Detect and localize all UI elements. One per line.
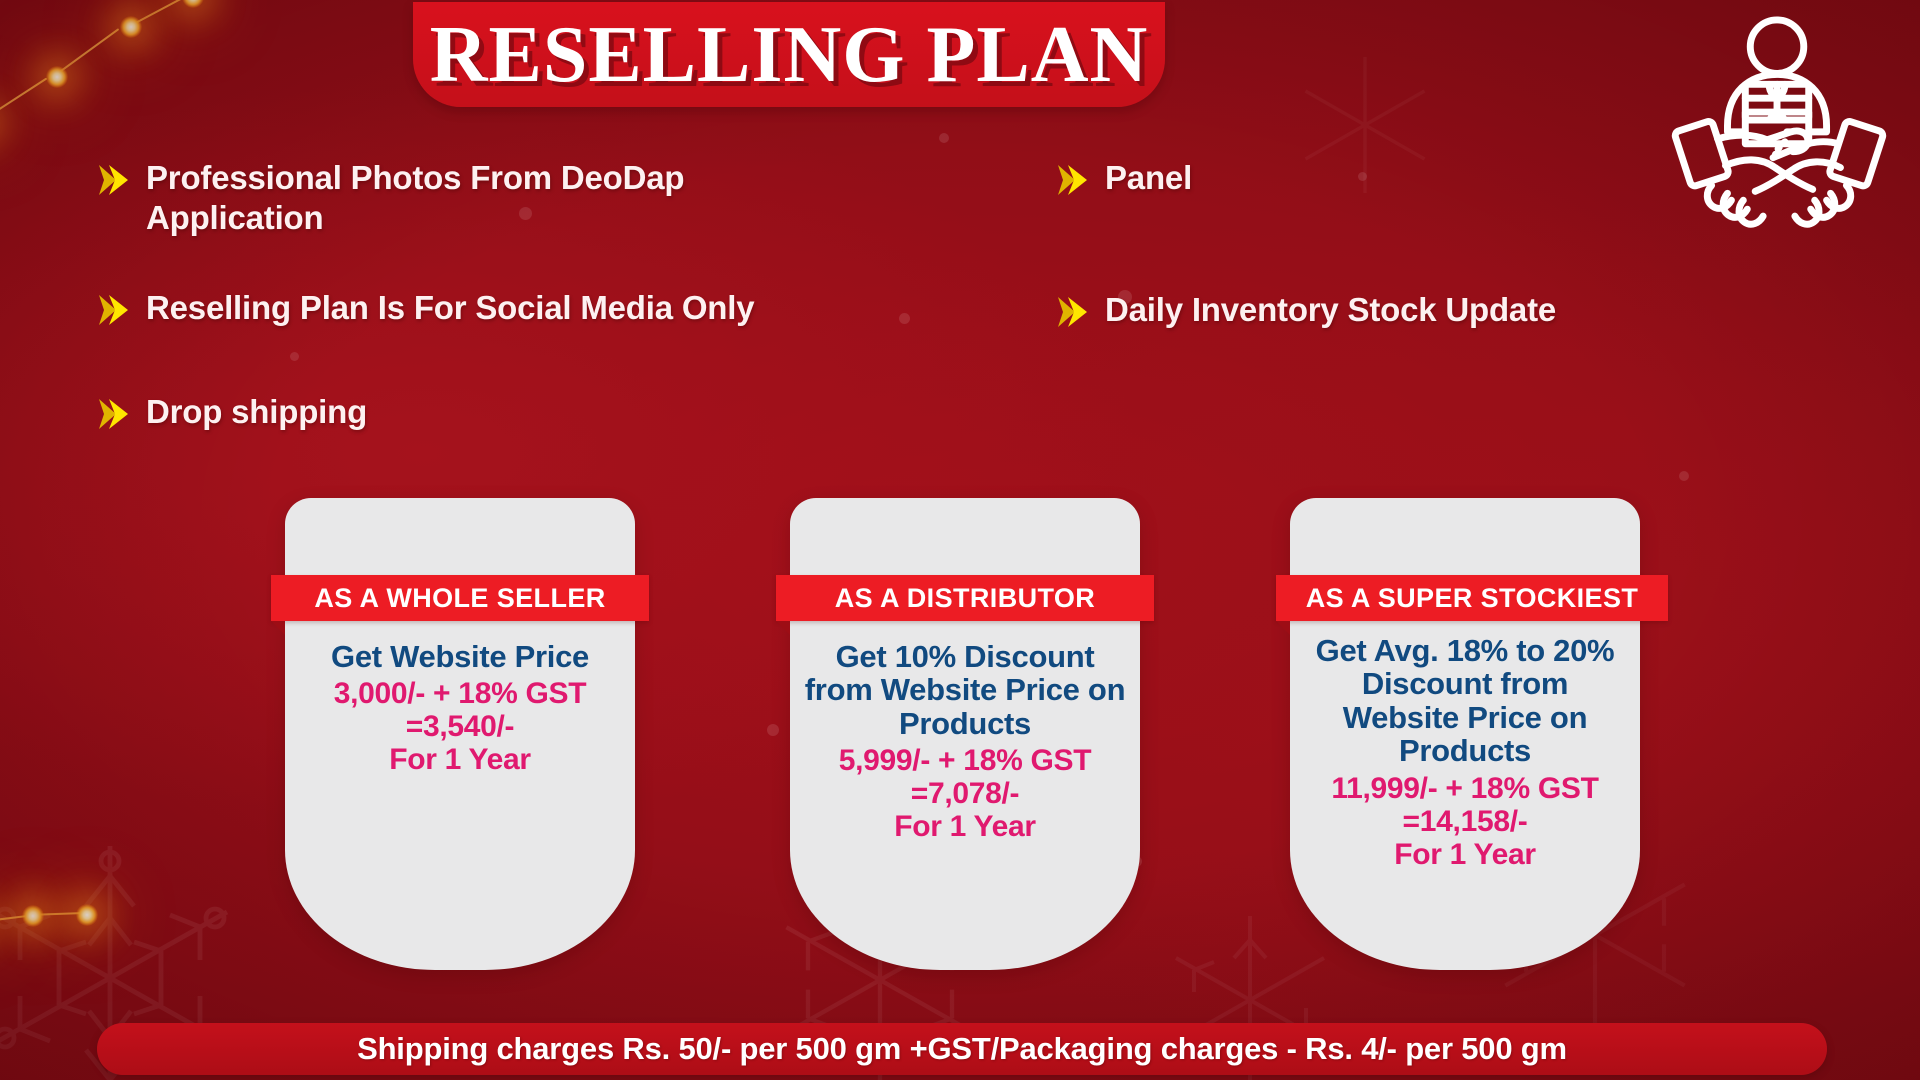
card-ribbon-label: AS A DISTRIBUTOR [835, 583, 1095, 614]
card-price-total: =7,078/- [800, 777, 1130, 810]
card-price-duration: For 1 Year [800, 810, 1130, 843]
card-content: Get Website Price 3,000/- + 18% GST =3,5… [285, 640, 635, 776]
card-price-duration: For 1 Year [1300, 838, 1630, 871]
plan-card-super-stockiest[interactable]: AS A SUPER STOCKIEST Get Avg. 18% to 20%… [1290, 498, 1640, 970]
ribbon-fold [776, 621, 790, 635]
card-ribbon: AS A SUPER STOCKIEST [1276, 575, 1668, 621]
card-ribbon: AS A DISTRIBUTOR [776, 575, 1154, 621]
footer-note: Shipping charges Rs. 50/- per 500 gm +GS… [357, 1031, 1567, 1067]
card-content: Get 10% Discount from Website Price on P… [790, 640, 1140, 843]
ribbon-fold [271, 621, 285, 635]
card-price-line: 5,999/- + 18% GST [800, 744, 1130, 777]
card-price-total: =3,540/- [295, 710, 625, 743]
card-price-line: 11,999/- + 18% GST [1300, 772, 1630, 805]
card-headline: Get 10% Discount from Website Price on P… [800, 640, 1130, 740]
plan-card-distributor[interactable]: AS A DISTRIBUTOR Get 10% Discount from W… [790, 498, 1140, 970]
plan-cards: AS A WHOLE SELLER Get Website Price 3,00… [0, 0, 1920, 1080]
card-headline: Get Website Price [295, 640, 625, 673]
card-headline: Get Avg. 18% to 20% Discount from Websit… [1300, 634, 1630, 768]
footer-banner: Shipping charges Rs. 50/- per 500 gm +GS… [97, 1023, 1827, 1075]
card-ribbon-label: AS A SUPER STOCKIEST [1306, 583, 1639, 614]
ribbon-fold [1276, 621, 1290, 635]
card-ribbon-label: AS A WHOLE SELLER [314, 583, 605, 614]
plan-card-whole-seller[interactable]: AS A WHOLE SELLER Get Website Price 3,00… [285, 498, 635, 970]
card-content: Get Avg. 18% to 20% Discount from Websit… [1290, 634, 1640, 871]
card-price-duration: For 1 Year [295, 743, 625, 776]
card-price-total: =14,158/- [1300, 805, 1630, 838]
card-price-line: 3,000/- + 18% GST [295, 677, 625, 710]
card-ribbon: AS A WHOLE SELLER [271, 575, 649, 621]
